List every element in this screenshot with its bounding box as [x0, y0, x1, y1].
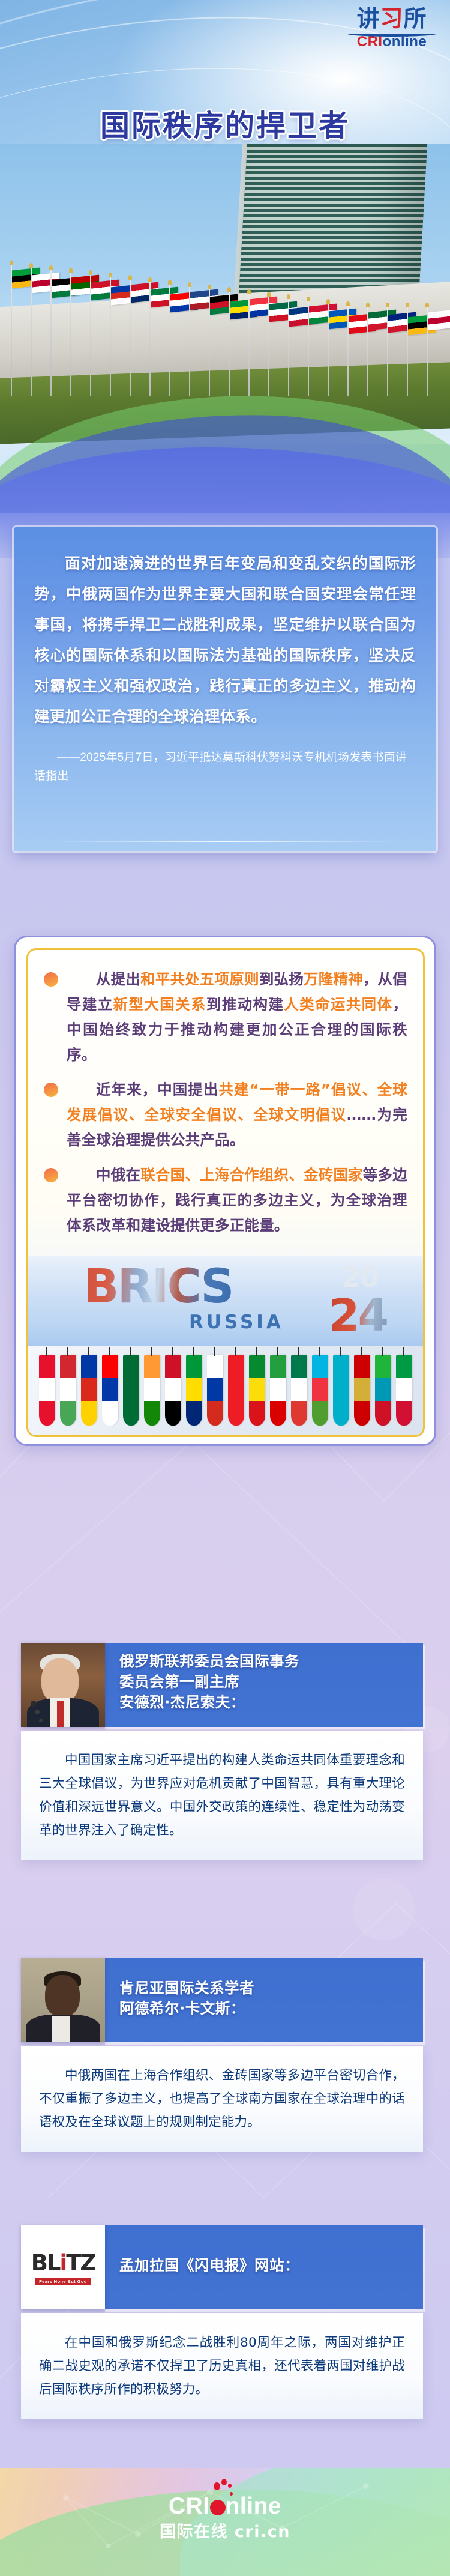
speaker-quote-body: 中俄两国在上海合作组织、金砖国家等多边平台密切合作，不仅重振了多边主义，也提高了…: [21, 2046, 423, 2152]
speaker-quote-text: 中国国家主席习近平提出的构建人类命运共同体重要理念和三大全球倡议，为世界应对危机…: [39, 1749, 405, 1842]
quote-source-attribution: ——2025年5月7日，习近平抵达莫斯科伏努科沃专机机场发表书面讲话指出: [34, 748, 416, 785]
key-point-highlight: 新型大国关系: [113, 996, 206, 1013]
blitz-tagline: Fears None But God: [35, 2278, 91, 2285]
speaker-quote-body: 中国国家主席习近平提出的构建人类命运共同体重要理念和三大全球倡议，为世界应对危机…: [21, 1731, 423, 1860]
key-point-text: 从提出和平共处五项原则到弘扬万隆精神，从倡导建立新型大国关系到推动构建人类命运共…: [67, 967, 407, 1068]
key-points-list: 从提出和平共处五项原则到弘扬万隆精神，从倡导建立新型大国关系到推动构建人类命运共…: [28, 950, 423, 1238]
flagpole: [70, 271, 71, 396]
page-title: 国际秩序的捍卫者: [0, 102, 450, 145]
sco-member-flag: [102, 1355, 118, 1426]
speaker-quote-text: 在中国和俄罗斯纪念二战胜利80周年之际，两国对维护正确二战史观的承诺不仅捍卫了历…: [39, 2331, 405, 2401]
flagpole: [347, 305, 349, 396]
flagpole: [248, 293, 250, 396]
key-point-item: 近年来，中国提出共建“一带一路”倡议、全球发展倡议、全球安全倡议、全球文明倡议……: [44, 1077, 407, 1153]
speaker-name-text: 孟加拉国《闪电报》网站：: [103, 2225, 423, 2276]
sco-member-flag: [291, 1355, 307, 1426]
portrait-shirt: [52, 2016, 70, 2042]
sco-member-flag: [39, 1355, 55, 1426]
bullet-dot-icon: [44, 972, 58, 987]
flagpole: [50, 269, 52, 396]
speaker-header: 肯尼亚国际关系学者 阿德希尔·卡文斯：: [14, 1955, 436, 2046]
speaker-portrait-photo: [21, 1958, 105, 2042]
speaker-name-line: 俄罗斯联邦委员会国际事务: [119, 1651, 423, 1672]
sco-member-flag: [333, 1355, 349, 1426]
key-point-plain: 中俄在: [96, 1166, 140, 1184]
flagpole: [209, 288, 210, 396]
sco-member-flag: [186, 1355, 202, 1426]
speaker-header: 俄罗斯联邦委员会国际事务 委员会第一副主席 安德烈·杰尼索夫：: [14, 1639, 436, 1731]
sco-member-flag: [312, 1355, 328, 1426]
flagpole: [367, 306, 368, 396]
quote-divider: [50, 841, 400, 842]
brand-logo-jiangxisuo[interactable]: 讲习所 CRIonline: [347, 7, 437, 49]
sco-member-flag: [165, 1355, 181, 1426]
sco-member-flag: [60, 1355, 76, 1426]
flagpole: [288, 298, 289, 396]
key-points-card-inner: 从提出和平共处五项原则到弘扬万隆精神，从倡导建立新型大国关系到推动构建人类命运共…: [26, 948, 425, 1437]
flagpole: [90, 274, 91, 396]
blitz-wordmark: BLiTZ: [31, 2250, 95, 2276]
speaker-name-text: 俄罗斯联邦委员会国际事务 委员会第一副主席 安德烈·杰尼索夫：: [103, 1643, 423, 1713]
flagpole: [11, 264, 12, 396]
un-member-flag-row: [0, 270, 450, 396]
flagpole: [189, 286, 190, 396]
flagpole: [427, 306, 428, 396]
flagpole: [110, 276, 111, 396]
portrait-face: [41, 1658, 79, 1703]
sco-member-flag: [270, 1355, 286, 1426]
footer-brand-logo[interactable]: CRI nline 国际在线 cri.cn: [0, 2494, 450, 2540]
bullet-dot-icon: [44, 1168, 58, 1182]
sco-member-flag: [354, 1355, 370, 1426]
flagpole: [169, 283, 170, 396]
speaker-name-line: 孟加拉国《闪电报》网站：: [119, 2255, 423, 2276]
key-point-highlight: 和平共处五项原则: [140, 970, 259, 988]
key-point-item: 中俄在联合国、上海合作组织、金砖国家等多边平台密切协作，践行真正的多边主义，为全…: [44, 1163, 407, 1238]
speaker-name-banner: 肯尼亚国际关系学者 阿德希尔·卡文斯：: [103, 1958, 423, 2042]
speaker-block-denisov: 俄罗斯联邦委员会国际事务 委员会第一副主席 安德烈·杰尼索夫： 中国国家主席习近…: [14, 1639, 436, 1860]
sco-member-flag: [228, 1355, 244, 1426]
sco-member-flag: [123, 1355, 139, 1426]
page-footer: CRI nline 国际在线 cri.cn: [0, 2468, 450, 2576]
sco-member-flag: [207, 1355, 223, 1426]
flagpole: [149, 281, 151, 396]
sco-member-flag: [144, 1355, 160, 1426]
portrait-face: [45, 1975, 80, 2017]
brics-year-24: 24: [329, 1290, 387, 1341]
brics-host-country: RUSSIA: [189, 1311, 284, 1333]
speaker-block-kavince: 肯尼亚国际关系学者 阿德希尔·卡文斯： 中俄两国在上海合作组织、金砖国家等多边平…: [14, 1955, 436, 2152]
sco-member-flag: [396, 1355, 412, 1426]
sco-member-flag: [81, 1355, 97, 1426]
sco-flags-image: [28, 1346, 423, 1435]
brics-wordmark: BRICS: [83, 1260, 232, 1314]
speaker-name-line: 委员会第一副主席: [119, 1672, 423, 1692]
speaker-quote-text: 中俄两国在上海合作组织、金砖国家等多边平台密切合作，不仅重振了多边主义，也提高了…: [39, 2064, 405, 2134]
speaker-name-line: 安德烈·杰尼索夫：: [119, 1692, 423, 1713]
bullet-dot-icon: [44, 1083, 58, 1097]
flagpole: [268, 295, 269, 396]
speaker-name-line: 阿德希尔·卡文斯：: [119, 1998, 423, 2019]
speaker-name-line: 肯尼亚国际关系学者: [119, 1978, 423, 1998]
flagpole: [407, 306, 408, 396]
key-point-item: 从提出和平共处五项原则到弘扬万隆精神，从倡导建立新型大国关系到推动构建人类命运共…: [44, 967, 407, 1068]
brics-year-20: 20: [341, 1261, 379, 1293]
flagpole: [328, 303, 329, 396]
sco-member-flag: [249, 1355, 265, 1426]
key-point-plain: 到弘扬: [259, 970, 304, 988]
key-point-plain: 到推动构建: [206, 996, 284, 1013]
flagpole: [387, 306, 388, 396]
footer-chinese-brand: 国际在线 cri.cn: [0, 2524, 450, 2540]
xi-quote-card: 面对加速演进的世界百年变局和变乱交织的国际形势，中俄两国作为世界主要大国和联合国…: [14, 527, 436, 851]
key-point-text: 近年来，中国提出共建“一带一路”倡议、全球发展倡议、全球安全倡议、全球文明倡议……: [67, 1077, 407, 1153]
speaker-name-banner: 孟加拉国《闪电报》网站：: [103, 2225, 423, 2309]
logo-chinese-chars: 讲习所: [356, 7, 427, 30]
key-point-text: 中俄在联合国、上海合作组织、金砖国家等多边平台密切协作，践行真正的多边主义，为全…: [67, 1163, 407, 1238]
microphone-icon: [31, 1701, 37, 1707]
infographic-page: 讲习所 CRIonline 国际秩序的捍卫者 面对加速演进的世界百年变局和变乱交…: [0, 0, 450, 2576]
key-point-highlight: 人类命运共同体: [284, 996, 392, 1013]
key-point-highlight: 万隆精神: [304, 970, 363, 988]
speaker-block-blitz: 孟加拉国《闪电报》网站： BLiTZ Fears None But God 在中…: [14, 2222, 436, 2419]
logo-cri-online: CRIonline: [347, 35, 437, 49]
quote-body-text: 面对加速演进的世界百年变局和变乱交织的国际形势，中俄两国作为世界主要大国和联合国…: [34, 549, 416, 733]
flagpole: [229, 291, 230, 396]
blitz-logo: BLiTZ Fears None But God: [21, 2225, 105, 2309]
portrait-tie: [57, 1701, 64, 1727]
speaker-header: 孟加拉国《闪电报》网站： BLiTZ Fears None But God: [14, 2222, 436, 2313]
brics-2024-backdrop-image: BRICS 20 24 RUSSIA: [28, 1256, 423, 1346]
national-flag: [428, 310, 450, 331]
sco-member-flag: [375, 1355, 391, 1426]
speaker-quote-body: 在中国和俄罗斯纪念二战胜利80周年之际，两国对维护正确二战史观的承诺不仅捍卫了历…: [21, 2313, 423, 2419]
flagpole: [308, 300, 309, 396]
key-point-plain: 近年来，中国提出: [96, 1081, 218, 1098]
speaker-name-text: 肯尼亚国际关系学者 阿德希尔·卡文斯：: [103, 1958, 423, 2019]
footer-cri-online-wordmark: CRI nline: [169, 2494, 281, 2518]
key-point-highlight: 联合国、上海合作组织、金砖国家: [140, 1166, 363, 1184]
key-point-plain: 从提出: [96, 970, 140, 988]
flagpole: [130, 279, 131, 396]
flagpole: [31, 267, 32, 396]
key-points-card: 从提出和平共处五项原则到弘扬万隆精神，从倡导建立新型大国关系到推动构建人类命运共…: [14, 936, 436, 1446]
speaker-portrait-photo: [21, 1643, 105, 1727]
hero-section: 讲习所 CRIonline 国际秩序的捍卫者: [0, 0, 450, 558]
speaker-name-banner: 俄罗斯联邦委员会国际事务 委员会第一副主席 安德烈·杰尼索夫：: [103, 1643, 423, 1727]
